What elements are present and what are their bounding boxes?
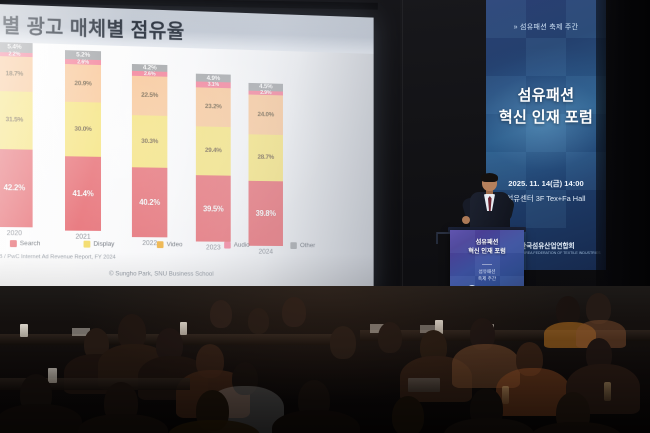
bar-column: 5.4%2.2%18.7%31.5%42.2%2020 bbox=[0, 42, 33, 227]
bar-segment-display: 30.0% bbox=[65, 102, 101, 157]
water-bottle bbox=[604, 382, 611, 401]
legend-label: Search bbox=[20, 240, 41, 247]
podium-sign-subtitle: 섬유패션 축제 주간 bbox=[450, 268, 524, 283]
legend-swatch-icon bbox=[157, 241, 164, 248]
audience-area bbox=[0, 286, 650, 433]
podium-sub-line1: 섬유패션 bbox=[450, 268, 524, 275]
legend-label: Audio bbox=[234, 242, 250, 249]
bar-column: 4.2%2.6%22.5%30.3%40.2%2022 bbox=[132, 64, 167, 237]
bar-segment-label: 30.0% bbox=[74, 126, 91, 133]
bar-segment-label: 23.2% bbox=[205, 103, 222, 110]
audience-head bbox=[330, 326, 356, 359]
audience-shoulders bbox=[272, 410, 360, 433]
audience-head bbox=[248, 308, 269, 334]
bar-segment-video: 18.7% bbox=[0, 56, 33, 92]
podium-sub-line2: 축제 주간 bbox=[450, 275, 524, 282]
legend-label: Video bbox=[167, 241, 183, 248]
bar-segment-label: 5.2% bbox=[76, 52, 90, 59]
bar-segment-video: 24.0% bbox=[249, 95, 283, 135]
bar-segment-label: 4.9% bbox=[207, 75, 220, 82]
legend-swatch-icon bbox=[10, 240, 17, 247]
audience-head bbox=[282, 297, 306, 327]
bar-segment-video: 23.2% bbox=[196, 87, 231, 127]
audience-shoulders bbox=[530, 422, 622, 433]
bar-segment-label: 41.4% bbox=[72, 189, 93, 198]
legend-label: Other bbox=[300, 242, 315, 249]
legend-swatch-icon bbox=[291, 242, 297, 249]
bar-segment-label: 39.5% bbox=[203, 204, 223, 213]
legend-item-video: Video bbox=[157, 241, 182, 248]
podium-divider bbox=[482, 264, 492, 265]
x-axis-label: 2021 bbox=[65, 231, 101, 241]
microphone-arm bbox=[436, 234, 438, 244]
bar-segment-display: 29.4% bbox=[196, 126, 231, 176]
bar-segment-label: 29.4% bbox=[205, 147, 222, 154]
bar-segment-label: 30.3% bbox=[141, 138, 158, 145]
banner-title: 섬유패션 혁신 인재 포럼 bbox=[486, 85, 606, 129]
paper-cup bbox=[48, 368, 57, 383]
projection-screen: 별 광고 매체별 점유율 5.4%2.2%18.7%31.5%42.2%2020… bbox=[0, 4, 374, 295]
legend-item-display: Display bbox=[84, 241, 115, 248]
audience-head bbox=[210, 300, 232, 328]
audience-head bbox=[378, 322, 402, 353]
laptop bbox=[408, 378, 440, 392]
bar-segment-label: 40.2% bbox=[139, 198, 160, 207]
bar-column: 4.9%3.1%23.2%29.4%39.5%2023 bbox=[196, 74, 231, 242]
slide-title: 별 광고 매체별 점유율 bbox=[2, 9, 185, 44]
bar-segment-label: 20.9% bbox=[74, 80, 91, 87]
podium-area: 섬유패션 혁신 인재 포럼 섬유패션 축제 주간 한국섬유산업연합회 bbox=[432, 178, 550, 300]
water-bottle bbox=[502, 386, 509, 404]
bar-segment-search: 39.8% bbox=[249, 181, 283, 246]
bar-segment-label: 31.5% bbox=[6, 116, 24, 123]
bar-segment-display: 31.5% bbox=[0, 91, 33, 150]
podium-title-line2: 혁신 인재 포럼 bbox=[450, 248, 524, 257]
bar-segment-display: 28.7% bbox=[249, 134, 283, 181]
bar-segment-label: 5.4% bbox=[7, 44, 21, 51]
paper-cup bbox=[20, 324, 28, 337]
legend-swatch-icon bbox=[84, 241, 91, 248]
banner-title-line2: 혁신 인재 포럼 bbox=[486, 107, 606, 129]
speaker-hair bbox=[481, 173, 498, 182]
legend-item-other: Other bbox=[291, 242, 315, 249]
legend-swatch-icon bbox=[224, 242, 231, 249]
bar-segment-label: 39.8% bbox=[256, 209, 276, 218]
paper-cup bbox=[180, 322, 187, 335]
bar-segment-search: 40.2% bbox=[132, 167, 167, 237]
audience-shoulders bbox=[78, 414, 168, 433]
bar-segment-label: 28.7% bbox=[258, 154, 274, 161]
bar-segment-search: 42.2% bbox=[0, 149, 33, 227]
audience-head bbox=[392, 396, 424, 433]
bar-segment-display: 30.3% bbox=[132, 115, 167, 168]
legend-item-audio: Audio bbox=[224, 242, 249, 249]
bar-segment-search: 39.5% bbox=[196, 175, 231, 242]
banner-header-text: » 섬유패션 축제 주간 bbox=[486, 22, 606, 32]
chart-source-note: : IAB / PwC Internet Ad Revenue Report, … bbox=[0, 254, 116, 261]
legend-item-search: Search bbox=[10, 240, 41, 247]
speaker-figure bbox=[462, 174, 518, 232]
bar-segment-video: 20.9% bbox=[65, 64, 101, 103]
bar-segment-label: 22.5% bbox=[141, 92, 158, 99]
stacked-bar-chart: 5.4%2.2%18.7%31.5%42.2%20205.2%2.6%20.9%… bbox=[0, 42, 317, 235]
x-axis-label: 2020 bbox=[0, 227, 33, 237]
banner-title-line1: 섬유패션 bbox=[486, 85, 606, 107]
conference-photo-scene: 별 광고 매체별 점유율 5.4%2.2%18.7%31.5%42.2%2020… bbox=[0, 0, 650, 433]
audience-shoulders bbox=[444, 418, 534, 433]
speaker-hand bbox=[462, 216, 470, 224]
chart-credit: © Sungho Park, SNU Business School bbox=[0, 270, 321, 278]
chart-legend: SearchDisplayVideoAudioOther bbox=[10, 240, 315, 249]
bar-column: 4.5%2.9%24.0%28.7%39.8%2024 bbox=[249, 83, 283, 246]
podium-sign-title: 섬유패션 혁신 인재 포럼 bbox=[450, 239, 524, 257]
bar-column: 5.2%2.6%20.9%30.0%41.4%2021 bbox=[65, 50, 101, 231]
bar-segment-label: 18.7% bbox=[6, 70, 24, 77]
bar-segment-search: 41.4% bbox=[65, 156, 101, 231]
bar-segment-video: 22.5% bbox=[132, 76, 167, 116]
legend-label: Display bbox=[93, 241, 114, 248]
audience-shoulders bbox=[0, 404, 82, 433]
bar-segment-label: 42.2% bbox=[4, 184, 25, 193]
podium-title-line1: 섬유패션 bbox=[450, 239, 524, 248]
bar-segment-label: 24.0% bbox=[258, 111, 274, 118]
